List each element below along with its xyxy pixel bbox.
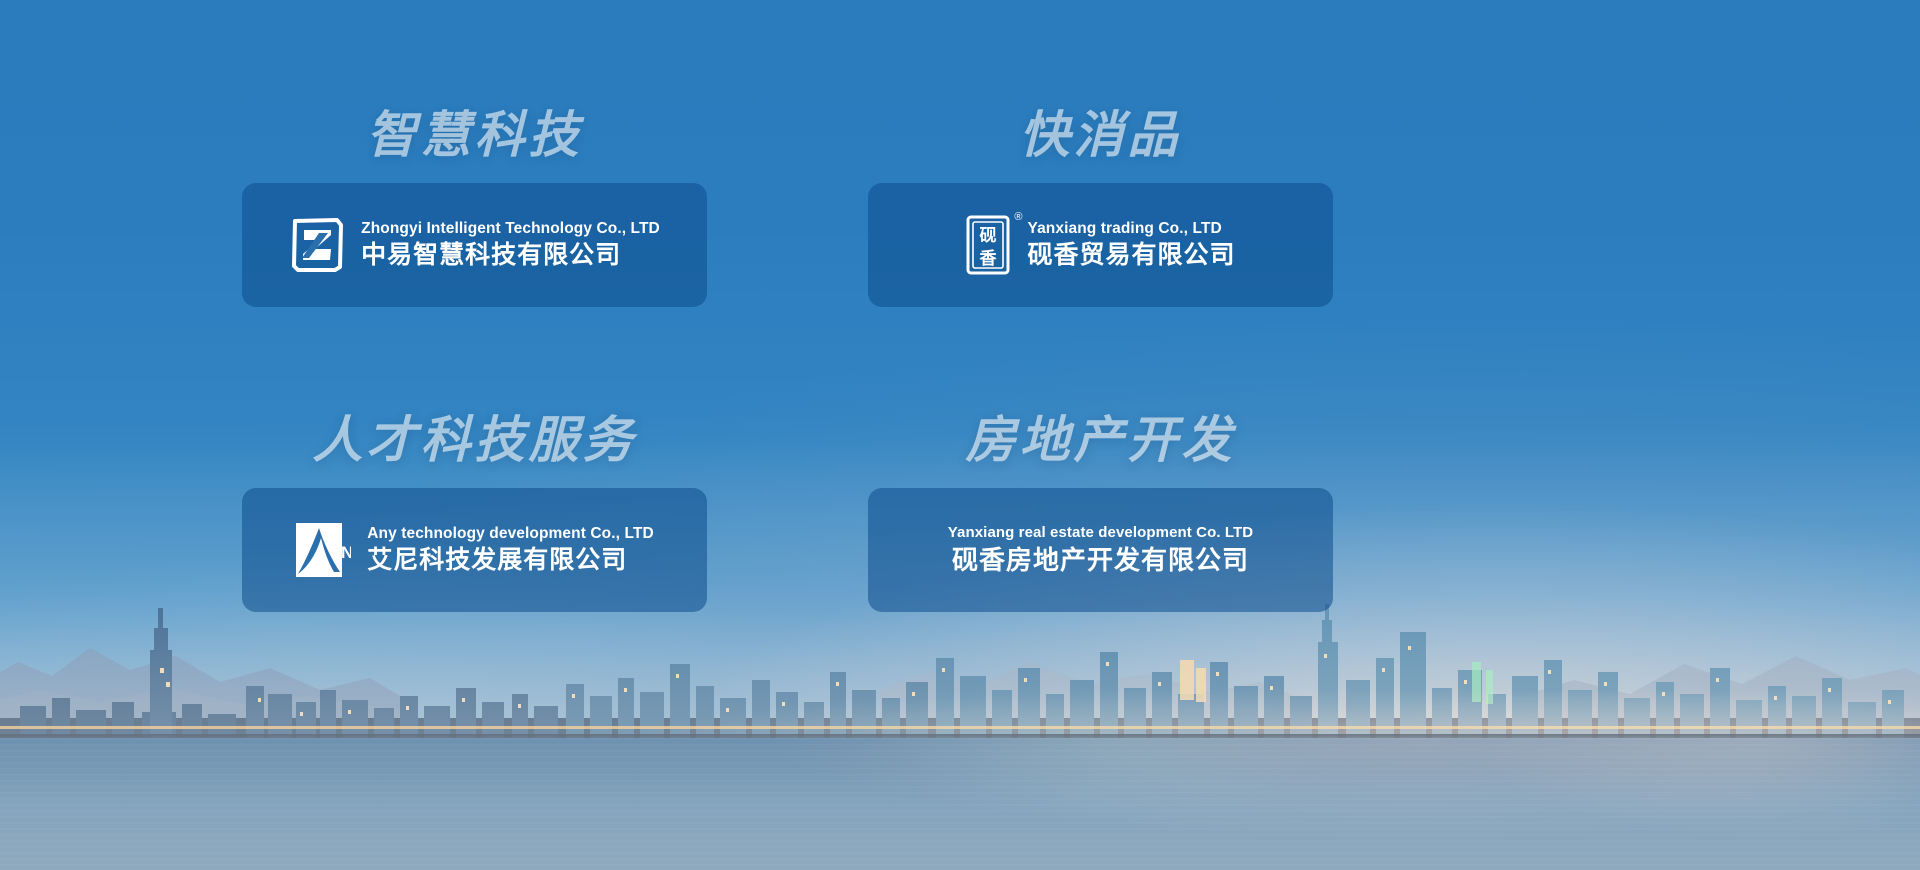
company-name-en: Yanxiang real estate development Co. LTD (948, 524, 1253, 541)
company-names-any-technology: Any technology development Co., LTD 艾尼科技… (367, 525, 654, 576)
svg-text:砚: 砚 (980, 226, 997, 246)
sector-heading-talent-services: 人才科技服务 (242, 415, 707, 465)
company-name-en: Yanxiang trading Co., LTD (1027, 220, 1235, 238)
company-card-yanxiang-real-estate[interactable]: Yanxiang real estate development Co. LTD… (868, 488, 1333, 612)
company-card-yanxiang-trading[interactable]: 砚 香 ® Yanxiang trading Co., LTD 砚香贸易有限公司 (868, 183, 1333, 307)
company-name-en: Zhongyi Intelligent Technology Co., LTD (361, 220, 660, 238)
zhongyi-logo-icon (289, 217, 345, 273)
any-mountain-logo-icon: NY (295, 522, 351, 578)
company-name-en: Any technology development Co., LTD (367, 525, 654, 543)
company-card-zhongyi[interactable]: Zhongyi Intelligent Technology Co., LTD … (242, 183, 707, 307)
svg-text:NY: NY (341, 543, 351, 562)
sector-cell-fmcg: 快消品 砚 香 ® (868, 110, 1333, 307)
registered-trademark-mark: ® (1014, 211, 1022, 223)
company-name-cn: 砚香贸易有限公司 (1027, 240, 1235, 270)
business-sectors-grid: 智慧科技 Zhongyi Intelligent Technology Co.,… (0, 0, 1920, 870)
company-name-cn: 砚香房地产开发有限公司 (952, 545, 1249, 576)
company-names-yanxiang-trading: Yanxiang trading Co., LTD 砚香贸易有限公司 (1027, 220, 1235, 271)
company-card-any-technology[interactable]: NY Any technology development Co., LTD 艾… (242, 488, 707, 612)
company-names-yanxiang-real-estate: Yanxiang real estate development Co. LTD… (948, 524, 1253, 575)
company-name-cn: 艾尼科技发展有限公司 (367, 545, 654, 575)
yanxiang-seal-logo-icon: 砚 香 (965, 214, 1011, 276)
sector-cell-real-estate: 房地产开发 Yanxiang real estate development C… (868, 415, 1333, 612)
sector-cell-smart-technology: 智慧科技 Zhongyi Intelligent Technology Co.,… (242, 110, 707, 307)
sector-heading-real-estate: 房地产开发 (868, 415, 1333, 465)
sector-cell-talent-services: 人才科技服务 NY Any technology development Co.… (242, 415, 707, 612)
page-root: 智慧科技 Zhongyi Intelligent Technology Co.,… (0, 0, 1920, 870)
sector-heading-fmcg: 快消品 (868, 110, 1333, 160)
svg-text:香: 香 (980, 249, 997, 269)
sector-heading-smart-technology: 智慧科技 (242, 110, 707, 160)
company-name-cn: 中易智慧科技有限公司 (361, 240, 660, 270)
company-names-zhongyi: Zhongyi Intelligent Technology Co., LTD … (361, 220, 660, 271)
